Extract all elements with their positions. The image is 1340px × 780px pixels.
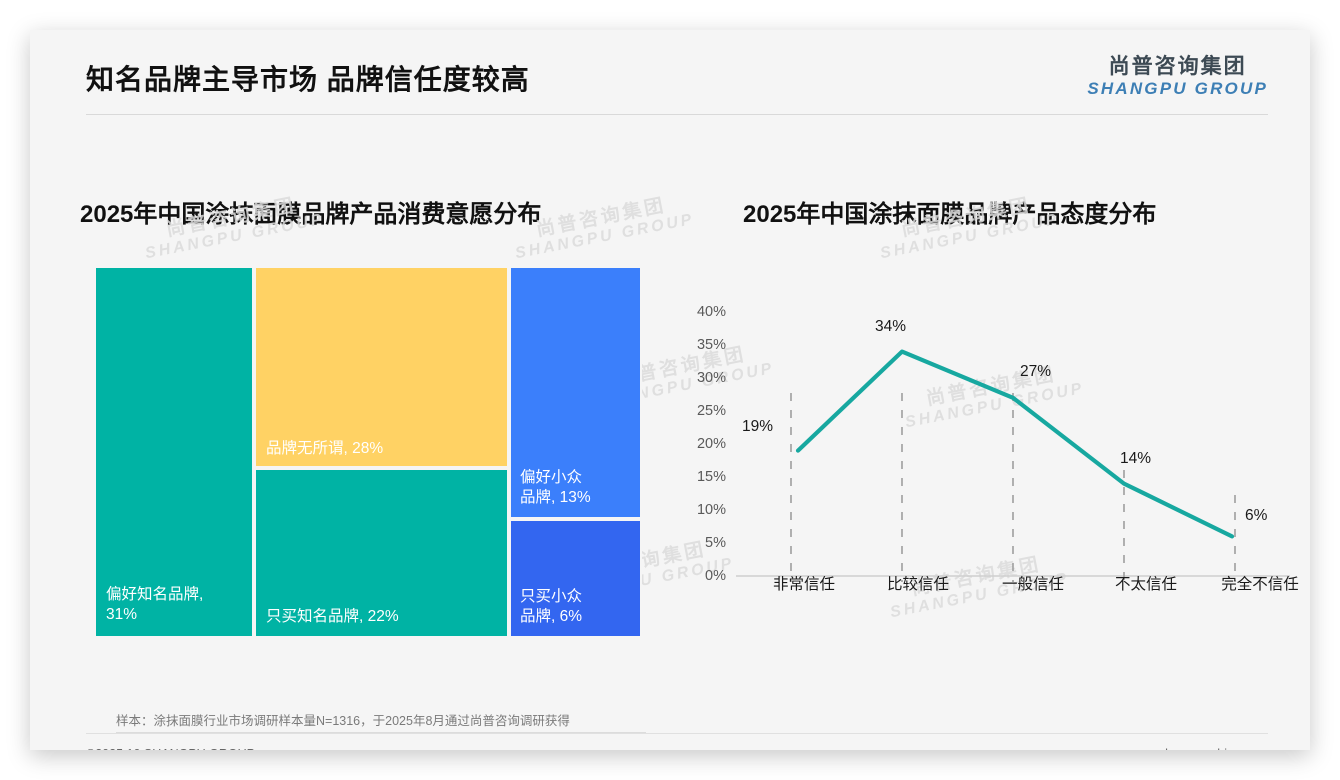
treemap-tile-label: 偏好小众 品牌, 13% bbox=[520, 468, 638, 507]
treemap-tile-label: 品牌无所谓, 28% bbox=[266, 439, 504, 458]
brand-logo: 尚普咨询集团 SHANGPU GROUP bbox=[1087, 56, 1268, 97]
treemap-tile-label: 偏好知名品牌, 31% bbox=[106, 585, 248, 624]
x-axis-label: 一般信任 bbox=[1002, 572, 1064, 594]
line-chart-plot bbox=[680, 280, 1292, 625]
header-divider bbox=[86, 114, 1268, 115]
treemap-tile-preferred-niche-brand[interactable]: 偏好小众 品牌, 13% bbox=[509, 266, 642, 519]
footer-website[interactable]: www.shangpu-china.com bbox=[1129, 747, 1268, 750]
footnote-text: 样本：涂抹面膜行业市场调研样本量N=1316，于2025年8月通过尚普咨询调研获… bbox=[116, 710, 570, 729]
data-label: 6% bbox=[1245, 507, 1267, 525]
treemap-tile-label: 只买知名品牌, 22% bbox=[266, 607, 504, 626]
footer-copyright: ©2025.10 SHANGPU GROUP bbox=[86, 747, 255, 750]
line-chart: 40% 35% 30% 25% 20% 15% 10% 5% 0% 19% 34… bbox=[680, 280, 1292, 625]
logo-chinese-text: 尚普咨询集团 bbox=[1087, 56, 1268, 77]
data-label: 27% bbox=[1020, 363, 1051, 381]
x-axis-label: 完全不信任 bbox=[1221, 572, 1299, 594]
right-chart-title: 2025年中国涂抹面膜品牌产品态度分布 bbox=[743, 194, 1156, 229]
x-axis-label: 不太信任 bbox=[1115, 572, 1177, 594]
page-title: 知名品牌主导市场 品牌信任度较高 bbox=[86, 58, 530, 98]
treemap-tile-only-known-brand[interactable]: 只买知名品牌, 22% bbox=[254, 468, 509, 638]
data-label: 19% bbox=[742, 418, 773, 436]
footer-divider bbox=[86, 733, 1268, 734]
left-chart-title: 2025年中国涂抹面膜品牌产品消费意愿分布 bbox=[80, 194, 541, 229]
logo-english-text: SHANGPU GROUP bbox=[1087, 80, 1268, 97]
treemap-tile-preferred-known-brand[interactable]: 偏好知名品牌, 31% bbox=[94, 266, 254, 638]
treemap-tile-label: 只买小众 品牌, 6% bbox=[520, 587, 638, 626]
treemap-tile-only-niche-brand[interactable]: 只买小众 品牌, 6% bbox=[509, 519, 642, 638]
x-axis-label: 非常信任 bbox=[773, 572, 835, 594]
treemap-chart: 偏好知名品牌, 31% 品牌无所谓, 28% 只买知名品牌, 22% 偏好小众 … bbox=[94, 266, 642, 638]
data-label: 34% bbox=[875, 318, 906, 336]
slide: 知名品牌主导市场 品牌信任度较高 尚普咨询集团 SHANGPU GROUP 20… bbox=[30, 30, 1310, 750]
treemap-tile-brand-indifferent[interactable]: 品牌无所谓, 28% bbox=[254, 266, 509, 468]
slide-header: 知名品牌主导市场 品牌信任度较高 尚普咨询集团 SHANGPU GROUP bbox=[30, 30, 1310, 116]
data-label: 14% bbox=[1120, 450, 1151, 468]
x-axis-label: 比较信任 bbox=[887, 572, 949, 594]
